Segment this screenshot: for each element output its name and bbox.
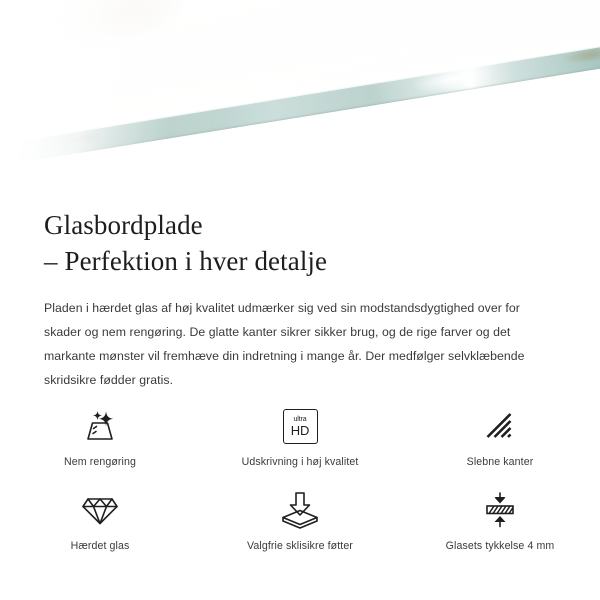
headline-line-2: – Perfektion i hver detalje xyxy=(44,244,556,280)
arrow-onto-pad-icon xyxy=(278,489,322,531)
product-hero-image xyxy=(0,0,600,196)
page-title: Glasbordplade – Perfektion i hver detalj… xyxy=(0,196,600,279)
description-paragraph: Pladen i hærdet glas af høj kvalitet udm… xyxy=(0,279,600,393)
feature-label: Glasets tykkelse 4 mm xyxy=(446,540,555,552)
feature-item-print-quality: ultra HD Udskrivning i høj kvalitet xyxy=(200,396,400,480)
thickness-gauge-icon xyxy=(478,489,522,531)
feature-item-anti-slip-feet: Valgfrie sklisikre føtter xyxy=(200,480,400,564)
glass-slab xyxy=(0,0,600,172)
product-description: Glasbordplade – Perfektion i hver detalj… xyxy=(0,196,600,393)
sparkle-plate-icon xyxy=(78,405,122,447)
feature-label: Slebne kanter xyxy=(467,456,534,468)
feature-item-easy-cleaning: Nem rengøring xyxy=(0,396,200,480)
feature-label: Udskrivning i høj kvalitet xyxy=(242,456,359,468)
ultra-hd-icon: ultra HD xyxy=(278,405,322,447)
ultra-hd-bottom-label: HD xyxy=(291,424,309,437)
ultra-hd-top-label: ultra xyxy=(293,416,306,423)
headline-line-1: Glasbordplade xyxy=(44,210,203,240)
feature-label: Hærdet glas xyxy=(71,540,130,552)
feature-grid: Nem rengøring ultra HD Udskrivning i høj… xyxy=(0,396,600,564)
feature-item-tempered-glass: Hærdet glas xyxy=(0,480,200,564)
feature-label: Valgfrie sklisikre føtter xyxy=(247,540,353,552)
hero-fade-bottom xyxy=(0,150,600,196)
feature-label: Nem rengøring xyxy=(64,456,136,468)
feature-item-polished-edges: Slebne kanter xyxy=(400,396,600,480)
diamond-icon xyxy=(78,489,122,531)
feature-item-glass-thickness: Glasets tykkelse 4 mm xyxy=(400,480,600,564)
hatched-triangle-icon xyxy=(478,405,522,447)
